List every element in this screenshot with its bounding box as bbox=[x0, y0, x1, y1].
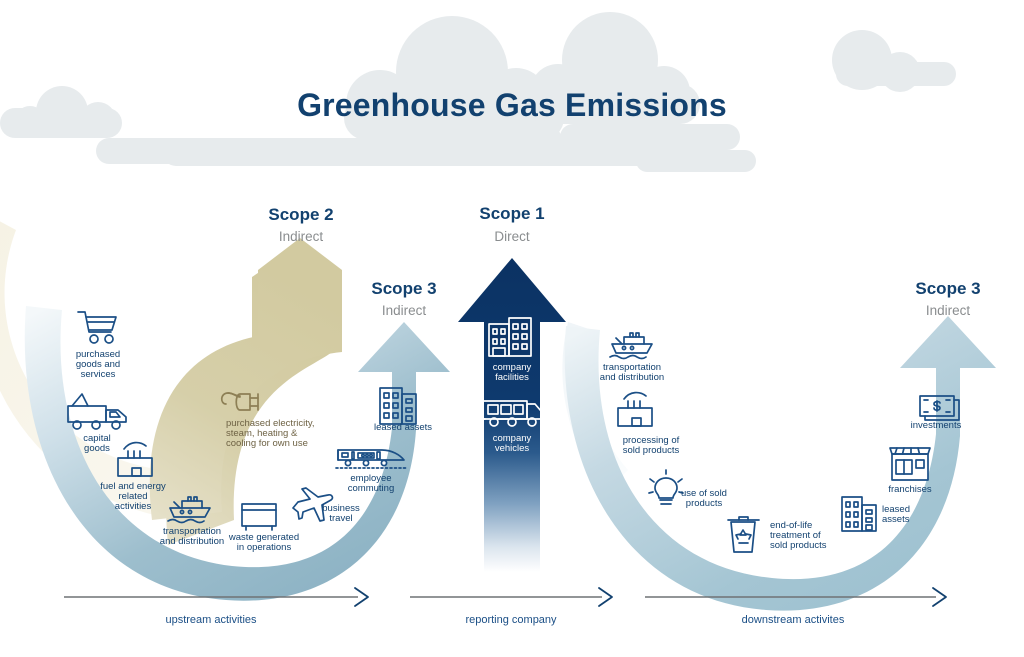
upstream-label-line: commuting bbox=[348, 483, 394, 494]
scope3-upstream-heading: Scope 3 bbox=[371, 279, 436, 298]
downstream-item-transportation: transportation and distribution bbox=[600, 333, 664, 383]
downstream-item-leased-assets: leased assets bbox=[842, 497, 910, 531]
cargo-ship-icon bbox=[610, 333, 652, 359]
shopping-cart-icon bbox=[78, 312, 116, 343]
upstream-label-line: activities bbox=[115, 501, 152, 512]
downstream-label-line: and distribution bbox=[600, 372, 664, 383]
truck-icon bbox=[68, 394, 126, 429]
scope1-heading-group: Scope 1 Direct bbox=[479, 204, 544, 244]
downstream-item-processing: processing of sold products bbox=[618, 393, 680, 456]
scope1-arrow[interactable] bbox=[458, 258, 566, 572]
scope3-downstream-heading-group: Scope 3 Indirect bbox=[915, 279, 980, 318]
cloud-shape-left bbox=[0, 86, 122, 138]
downstream-item-end-of-life: end-of-life treatment of sold products bbox=[728, 517, 827, 552]
lightbulb-icon bbox=[649, 470, 683, 504]
downstream-item-franchises: franchises bbox=[888, 448, 932, 495]
upstream-item-waste: waste generated in operations bbox=[228, 504, 299, 553]
infographic-canvas: Greenhouse Gas Emissions Scope 2 Indirec… bbox=[0, 0, 1024, 657]
scope3-downstream-heading: Scope 3 bbox=[915, 279, 980, 298]
scope1-heading: Scope 1 bbox=[479, 204, 544, 223]
downstream-label-line: assets bbox=[882, 514, 910, 525]
scope1-subtitle: Direct bbox=[494, 229, 530, 244]
upstream-label-line: leased assets bbox=[374, 422, 432, 433]
scope2-subtitle: Indirect bbox=[279, 229, 324, 244]
downstream-item-use-of-products: use of sold products bbox=[649, 470, 727, 509]
upstream-label-line: goods bbox=[84, 443, 110, 454]
scope1-label-line: vehicles bbox=[495, 443, 530, 454]
waste-bin-icon bbox=[242, 504, 276, 530]
storefront-icon bbox=[890, 448, 930, 480]
scope2-item-purchased-electricity: purchased electricity, steam, heating & … bbox=[222, 393, 315, 449]
scope3-downstream-subtitle: Indirect bbox=[926, 303, 971, 318]
upstream-label-line: services bbox=[81, 369, 116, 380]
scope2-heading: Scope 2 bbox=[268, 205, 333, 224]
recycle-bin-icon bbox=[728, 517, 759, 552]
upstream-label-line: travel bbox=[329, 513, 352, 524]
scope1-label-line: facilities bbox=[495, 372, 529, 383]
page-title: Greenhouse Gas Emissions bbox=[297, 87, 727, 123]
axis-reporting-company: reporting company bbox=[410, 588, 612, 626]
scope3-upstream-subtitle: Indirect bbox=[382, 303, 427, 318]
scope2-heading-group: Scope 2 Indirect bbox=[268, 205, 333, 244]
axis-label-reporting-company: reporting company bbox=[465, 614, 557, 626]
ghg-emissions-diagram: Greenhouse Gas Emissions Scope 2 Indirec… bbox=[0, 0, 1024, 657]
downstream-scope3-band[interactable] bbox=[565, 316, 996, 611]
upstream-label-line: and distribution bbox=[160, 536, 224, 547]
downstream-label-line: investments bbox=[911, 420, 962, 431]
axis-label-upstream: upstream activities bbox=[165, 614, 257, 626]
cloud-shape-far-right bbox=[832, 30, 956, 92]
downstream-label-line: sold products bbox=[770, 540, 827, 551]
scope3-upstream-heading-group: Scope 3 Indirect bbox=[371, 279, 436, 318]
upstream-label-line: in operations bbox=[237, 542, 292, 553]
factory-icon bbox=[618, 393, 652, 426]
scope2-swoosh bbox=[150, 238, 342, 520]
scope2-label-line: cooling for own use bbox=[226, 438, 308, 449]
downstream-label-line: sold products bbox=[623, 445, 680, 456]
downstream-label-line: franchises bbox=[888, 484, 932, 495]
downstream-label-line: products bbox=[686, 498, 723, 509]
upstream-item-purchased-goods: purchased goods and services bbox=[76, 312, 120, 380]
axis-label-downstream: downstream activites bbox=[742, 614, 845, 626]
buildings-icon bbox=[842, 497, 876, 531]
